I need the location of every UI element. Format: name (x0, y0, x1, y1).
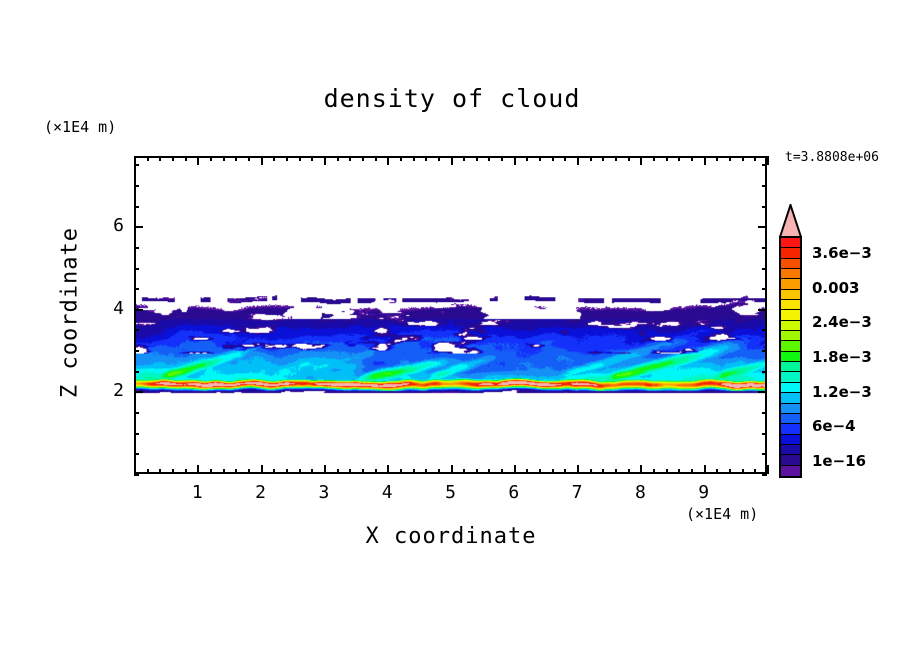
colorbar-band (781, 300, 800, 310)
x-tick-top (362, 156, 364, 161)
y-tick (134, 433, 139, 435)
y-tick-right (762, 288, 767, 290)
x-tick (666, 469, 668, 474)
x-tick (514, 465, 516, 474)
colorbar-band (781, 445, 800, 455)
x-tick-label: 4 (367, 482, 407, 503)
x-tick-top (653, 156, 655, 161)
y-tick-right (758, 226, 767, 228)
x-tick (261, 465, 263, 474)
y-tick-right (762, 412, 767, 414)
x-tick-top (235, 156, 237, 161)
x-tick (451, 465, 453, 474)
x-tick (691, 469, 693, 474)
colorbar-tick-label: 1e−16 (812, 452, 866, 470)
x-tick (438, 469, 440, 474)
x-tick (387, 465, 389, 474)
y-tick (134, 391, 143, 393)
colorbar-band (781, 310, 800, 320)
x-tick-top (463, 156, 465, 161)
x-tick (628, 469, 630, 474)
x-tick-top (159, 156, 161, 161)
y-tick (134, 247, 139, 249)
colorbar-tick-label: 1.8e−3 (812, 348, 872, 366)
y-tick (134, 206, 139, 208)
y-tick (134, 309, 143, 311)
y-axis-title: Z coordinate (58, 203, 83, 423)
x-tick-top (754, 156, 756, 161)
y-tick-label: 6 (84, 215, 124, 236)
x-tick (501, 469, 503, 474)
y-tick-right (758, 391, 767, 393)
x-tick-label: 8 (620, 482, 660, 503)
x-tick (729, 469, 731, 474)
colorbar-band (781, 362, 800, 372)
x-tick (337, 469, 339, 474)
x-tick-top (590, 156, 592, 161)
x-tick-top (197, 156, 199, 165)
x-tick (425, 469, 427, 474)
x-tick (754, 469, 756, 474)
colorbar-band (781, 331, 800, 341)
x-axis-unit-label: (×1E4 m) (686, 505, 758, 523)
x-tick (185, 469, 187, 474)
x-tick-top (678, 156, 680, 161)
x-tick-top (349, 156, 351, 161)
x-tick-top (337, 156, 339, 161)
colorbar-band (781, 269, 800, 279)
x-tick-top (691, 156, 693, 161)
x-tick (742, 469, 744, 474)
colorbar-band (781, 290, 800, 300)
x-tick-top (311, 156, 313, 161)
time-stamp-label: t=3.8808e+06 (785, 150, 879, 165)
x-tick-label: 5 (431, 482, 471, 503)
x-tick-top (564, 156, 566, 161)
y-tick (134, 226, 143, 228)
y-tick (134, 371, 139, 373)
x-tick-top (172, 156, 174, 161)
plot-root: density of cloud (×1E4 m) t=3.8808e+06 1… (0, 0, 904, 654)
colorbar-band (781, 414, 800, 424)
colorbar-tick-label: 2.4e−3 (812, 313, 872, 331)
x-tick-top (273, 156, 275, 161)
x-tick (324, 465, 326, 474)
x-tick (362, 469, 364, 474)
x-tick (577, 465, 579, 474)
x-tick-top (526, 156, 528, 161)
colorbar-tick-label: 1.2e−3 (812, 383, 872, 401)
colorbar-band (781, 455, 800, 465)
x-tick (678, 469, 680, 474)
x-tick-top (438, 156, 440, 161)
x-tick (526, 469, 528, 474)
x-tick-top (147, 156, 149, 161)
y-tick (134, 268, 139, 270)
y-tick-right (762, 474, 767, 476)
x-tick-label: 7 (557, 482, 597, 503)
x-tick (413, 469, 415, 474)
y-tick-right (762, 371, 767, 373)
colorbar-band (781, 259, 800, 269)
x-tick-top (640, 156, 642, 165)
colorbar-band (781, 352, 800, 362)
x-tick-top (488, 156, 490, 161)
y-tick (134, 185, 139, 187)
y-tick (134, 164, 139, 166)
x-tick (552, 469, 554, 474)
plot-frame (134, 156, 767, 474)
x-tick-top (615, 156, 617, 161)
colorbar-band (781, 435, 800, 445)
y-tick-label: 4 (84, 298, 124, 319)
x-tick (147, 469, 149, 474)
colorbar-band (781, 383, 800, 393)
colorbar-over-arrow-icon (779, 204, 802, 238)
x-tick-label: 1 (177, 482, 217, 503)
x-tick-top (425, 156, 427, 161)
x-tick (311, 469, 313, 474)
colorbar (779, 236, 802, 478)
x-tick-top (552, 156, 554, 161)
x-tick (172, 469, 174, 474)
x-tick (767, 465, 769, 474)
x-tick (476, 469, 478, 474)
x-tick (590, 469, 592, 474)
x-tick-top (286, 156, 288, 161)
y-axis-unit-label: (×1E4 m) (44, 118, 116, 136)
x-tick-top (185, 156, 187, 161)
x-tick-top (223, 156, 225, 161)
colorbar-tick-label: 6e−4 (812, 417, 856, 435)
x-tick (640, 465, 642, 474)
x-tick-top (451, 156, 453, 165)
x-tick (716, 469, 718, 474)
y-tick (134, 412, 139, 414)
y-tick-right (762, 329, 767, 331)
x-tick-top (248, 156, 250, 161)
x-tick-top (299, 156, 301, 161)
x-tick-top (261, 156, 263, 165)
x-tick (248, 469, 250, 474)
x-tick (223, 469, 225, 474)
contour-plot-canvas (136, 158, 765, 472)
x-tick (564, 469, 566, 474)
y-tick-right (762, 350, 767, 352)
y-tick (134, 453, 139, 455)
x-tick-top (501, 156, 503, 161)
colorbar-band (781, 341, 800, 351)
x-tick-top (324, 156, 326, 165)
x-tick-top (704, 156, 706, 165)
y-tick-right (762, 185, 767, 187)
x-tick (299, 469, 301, 474)
x-tick-top (742, 156, 744, 161)
y-tick-right (758, 309, 767, 311)
y-tick-right (762, 164, 767, 166)
x-tick-label: 9 (684, 482, 724, 503)
x-tick (286, 469, 288, 474)
x-tick (615, 469, 617, 474)
x-tick-label: 2 (241, 482, 281, 503)
x-tick-top (602, 156, 604, 161)
x-tick-top (577, 156, 579, 165)
colorbar-band (781, 404, 800, 414)
x-tick (197, 465, 199, 474)
x-tick-top (210, 156, 212, 161)
colorbar-band (781, 321, 800, 331)
x-tick-top (539, 156, 541, 161)
page-title: density of cloud (0, 84, 904, 113)
x-tick-top (514, 156, 516, 165)
y-tick (134, 350, 139, 352)
x-tick (349, 469, 351, 474)
x-tick (375, 469, 377, 474)
y-tick-right (762, 433, 767, 435)
x-tick (539, 469, 541, 474)
y-tick (134, 474, 139, 476)
colorbar-band (781, 424, 800, 434)
x-tick (602, 469, 604, 474)
x-tick-top (729, 156, 731, 161)
x-tick (488, 469, 490, 474)
x-tick-top (628, 156, 630, 161)
y-tick-right (762, 453, 767, 455)
colorbar-tick-label: 0.003 (812, 279, 859, 297)
y-tick-label: 2 (84, 380, 124, 401)
colorbar-band (781, 466, 800, 476)
x-tick-label: 6 (494, 482, 534, 503)
y-tick-right (762, 268, 767, 270)
x-tick-top (413, 156, 415, 161)
x-tick (653, 469, 655, 474)
y-tick-right (762, 206, 767, 208)
x-tick-top (716, 156, 718, 161)
y-tick (134, 329, 139, 331)
x-tick (210, 469, 212, 474)
x-tick (704, 465, 706, 474)
colorbar-band (781, 248, 800, 258)
colorbar-band (781, 238, 800, 248)
x-tick (235, 469, 237, 474)
x-tick-top (400, 156, 402, 161)
x-tick-top (387, 156, 389, 165)
x-tick (463, 469, 465, 474)
x-tick (134, 465, 136, 474)
x-tick-top (767, 156, 769, 165)
colorbar-band (781, 372, 800, 382)
x-tick-top (666, 156, 668, 161)
colorbar-band (781, 279, 800, 289)
y-tick (134, 288, 139, 290)
x-tick (400, 469, 402, 474)
colorbar-tick-label: 3.6e−3 (812, 244, 872, 262)
x-tick (159, 469, 161, 474)
y-tick-right (762, 247, 767, 249)
x-tick (273, 469, 275, 474)
x-axis-title: X coordinate (134, 524, 768, 549)
x-tick-top (375, 156, 377, 161)
colorbar-band (781, 393, 800, 403)
x-tick-top (476, 156, 478, 161)
x-tick-label: 3 (304, 482, 344, 503)
